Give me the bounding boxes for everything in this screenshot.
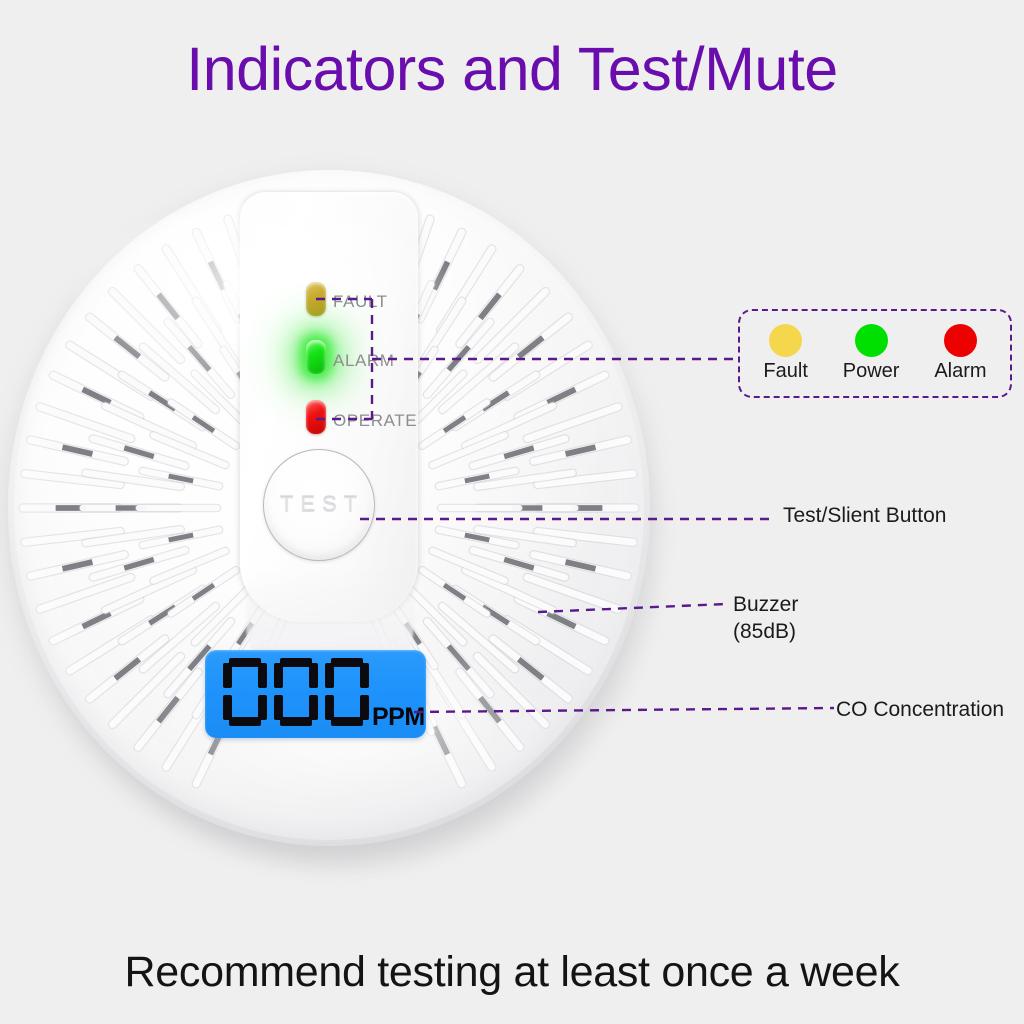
device-top-gloss [70, 204, 450, 404]
callout-test-silent-button: Test/Slient Button [783, 503, 946, 530]
led-alarm [306, 340, 326, 374]
lcd-display: PPM [205, 650, 426, 738]
lcd-digit-2 [274, 658, 318, 726]
legend-label-power: Power [843, 360, 900, 383]
lcd-digit-1 [223, 658, 267, 726]
legend-item-fault: Fault [763, 324, 807, 383]
legend-label-alarm: Alarm [934, 360, 986, 383]
led-fault [306, 282, 326, 316]
legend-box: Fault Power Alarm [738, 309, 1012, 398]
lcd-digits [223, 658, 369, 726]
lcd-digit-3 [325, 658, 369, 726]
led-label-alarm: ALARM [333, 351, 395, 371]
led-label-operate: OPERATE [333, 411, 417, 431]
footer-caption: Recommend testing at least once a week [0, 948, 1024, 997]
power-dot-icon [855, 324, 888, 357]
callout-co-concentration: CO Concentration [836, 697, 1004, 724]
carbon-monoxide-detector: FAULT ALARM OPERATE TEST PPM [8, 170, 668, 882]
led-label-fault: FAULT [333, 292, 388, 312]
alarm-dot-icon [944, 324, 977, 357]
led-operate [306, 400, 326, 434]
lcd-unit-label: PPM [372, 703, 425, 732]
fault-dot-icon [769, 324, 802, 357]
page-title: Indicators and Test/Mute [0, 36, 1024, 103]
legend-item-alarm: Alarm [934, 324, 986, 383]
legend-item-power: Power [843, 324, 900, 383]
legend-label-fault: Fault [763, 360, 807, 383]
callout-buzzer: Buzzer (85dB) [733, 592, 798, 646]
test-button-label: TEST [280, 492, 364, 518]
test-silent-button[interactable]: TEST [263, 449, 375, 561]
